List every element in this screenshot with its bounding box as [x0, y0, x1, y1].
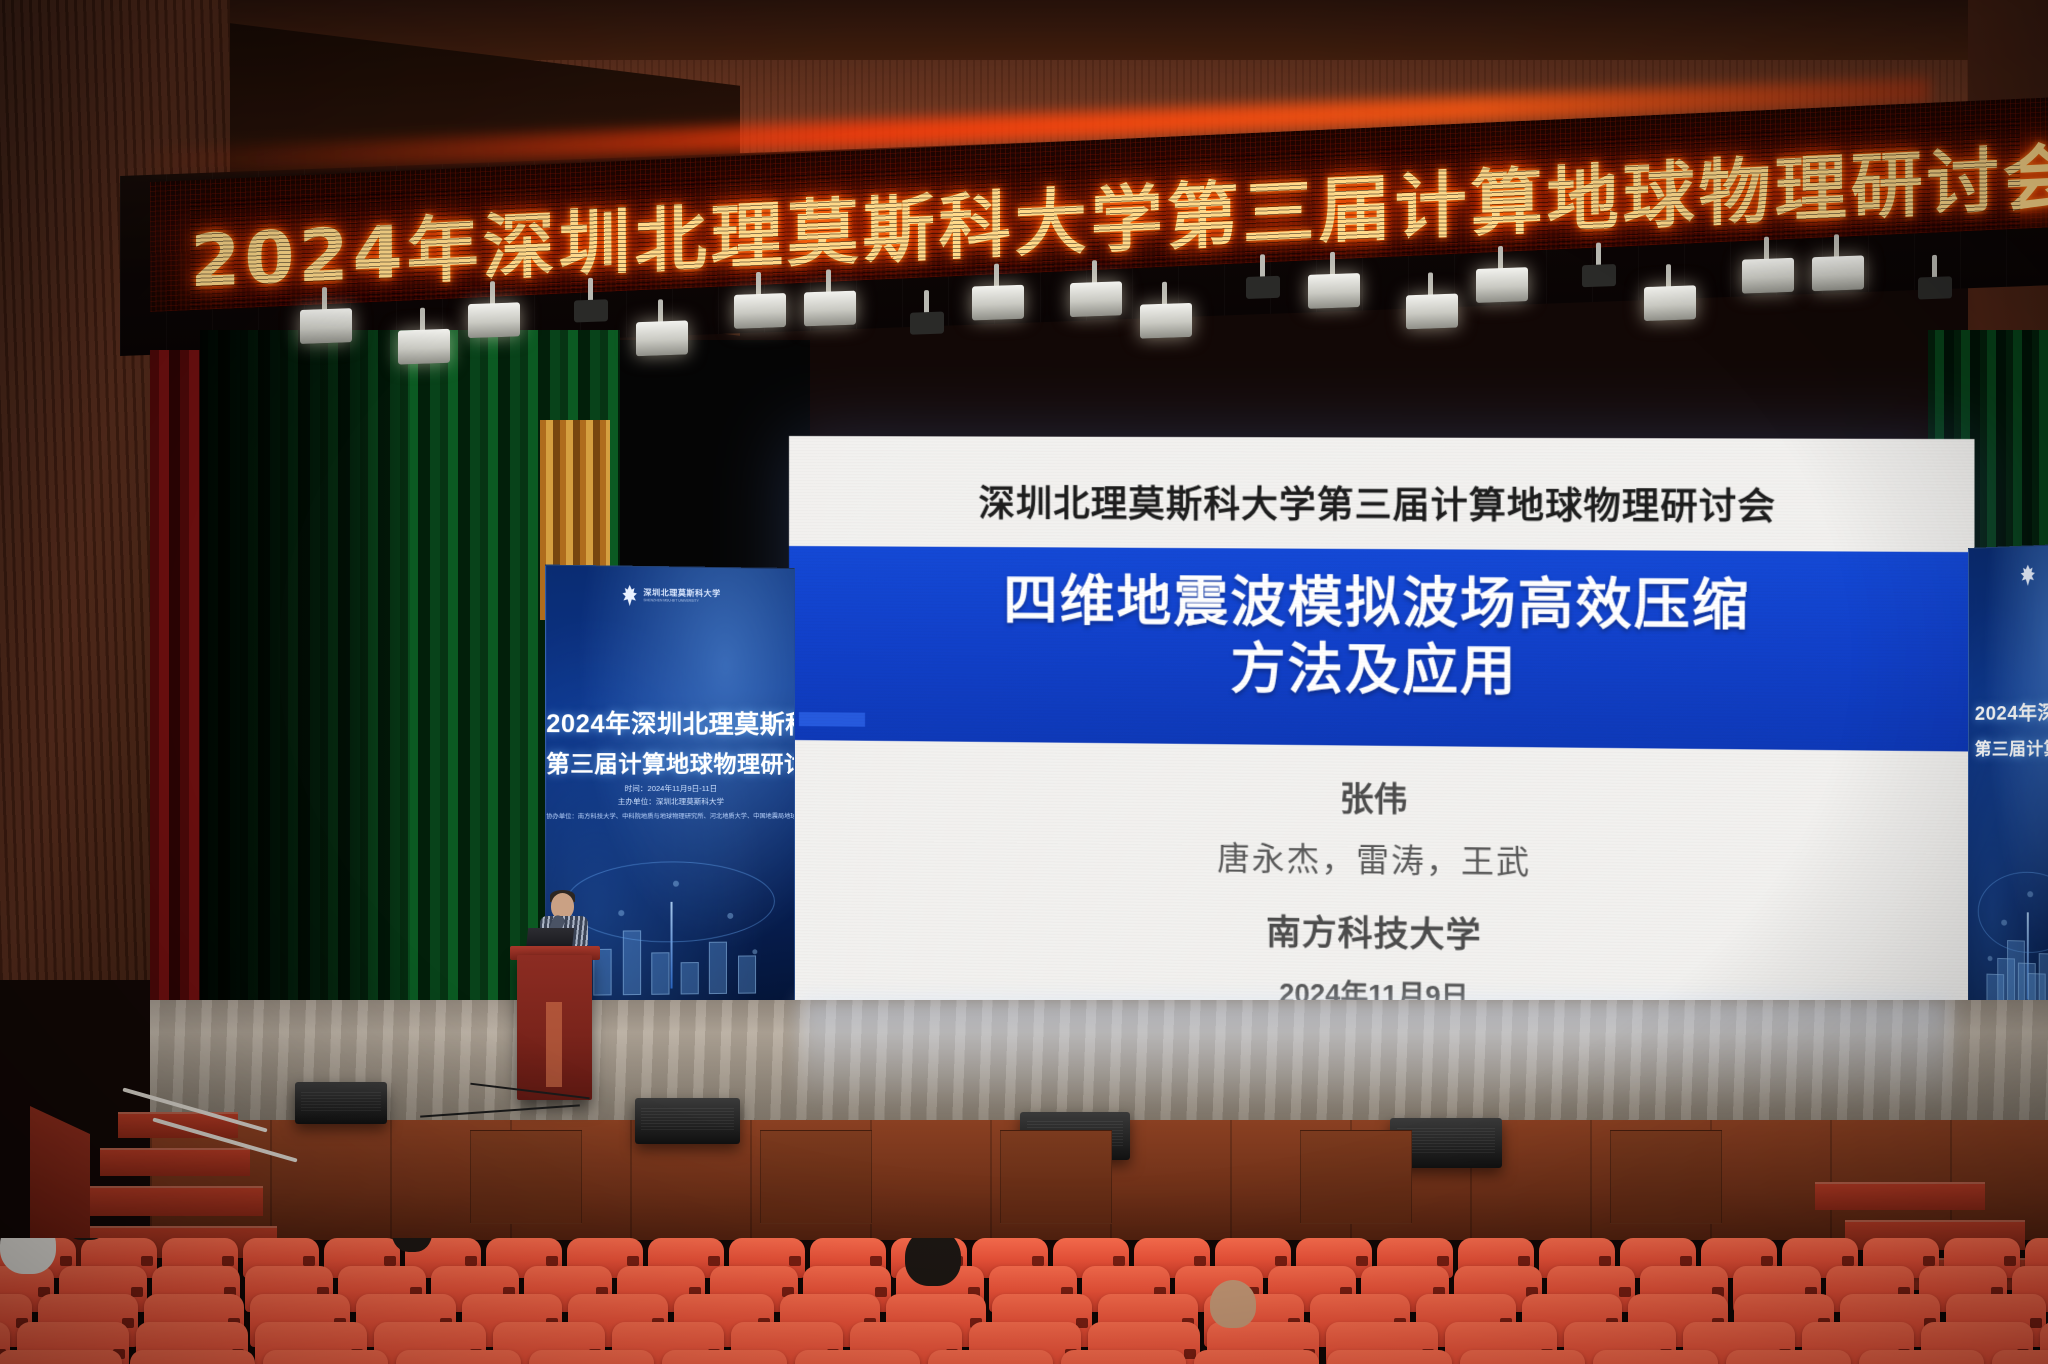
seat-cup-holder	[303, 1256, 315, 1266]
seat-cup-holder	[627, 1256, 639, 1266]
university-crest-icon-right	[2019, 564, 2036, 586]
seat-cup-holder	[2004, 1256, 2016, 1266]
truss-lamp	[468, 302, 520, 338]
presentation-screen: 深圳北理莫斯科大学第三届计算地球物理研讨会 四维地震波模拟波场高效压缩 方法及应…	[789, 436, 1975, 1053]
seat-cup-holder	[1194, 1256, 1206, 1266]
university-crest-icon	[621, 585, 638, 606]
audience-seat	[0, 1350, 122, 1364]
truss-lamp	[1742, 258, 1794, 294]
seat-cup-holder	[1842, 1256, 1854, 1266]
seat-cup-holder	[60, 1256, 72, 1266]
truss-lamp	[1406, 294, 1458, 330]
university-logo-text: 深圳北理莫斯科大学 SHENZHEN MSU-BIT UNIVERSITY	[643, 588, 720, 603]
poster-artwork-right	[1969, 839, 2048, 1024]
truss-lamp-off	[910, 312, 944, 335]
slide-title-band: 四维地震波模拟波场高效压缩 方法及应用	[789, 546, 1975, 752]
seat-cup-holder	[1275, 1256, 1287, 1266]
stage-front-panel-4	[1300, 1130, 1412, 1224]
seat-cup-holder	[222, 1256, 234, 1266]
poster-network-graphic	[1969, 839, 2048, 1024]
poster-meta-host: 主办单位：深圳北理莫斯科大学	[546, 796, 794, 807]
poster-banner-right: 2024年深圳北理 第三届计算地球物	[1968, 543, 2048, 1025]
audience-seat	[130, 1350, 255, 1364]
stage-step-3	[78, 1186, 263, 1216]
audience-seat	[662, 1350, 787, 1364]
seat-cup-holder	[1761, 1256, 1773, 1266]
seat-cup-holder	[384, 1256, 396, 1266]
truss-lamp	[734, 293, 786, 329]
seat-cup-holder	[1619, 1287, 1631, 1297]
seat-cup-holder	[1599, 1256, 1611, 1266]
seat-cup-holder	[141, 1256, 153, 1266]
university-logo-right	[2019, 564, 2036, 586]
seat-cup-holder	[2030, 1318, 2042, 1328]
seat-cup-holder	[546, 1256, 558, 1266]
seat-cup-holder	[870, 1256, 882, 1266]
poster-right-title-line-2: 第三届计算地球物	[1975, 734, 2048, 760]
university-logo-name: 深圳北理莫斯科大学	[643, 588, 720, 598]
truss-lamp	[1476, 267, 1528, 303]
truss-lamp-off	[574, 299, 608, 322]
audience-member-head	[1210, 1280, 1256, 1328]
auditorium-scene: 2024年深圳北理莫斯科大学第三届计算地球物理研讨会 深圳北理莫斯科大学第三届计…	[0, 0, 2048, 1364]
poster-meta-time: 时间：2024年11月9日-11日	[546, 783, 794, 794]
seat-cup-holder	[875, 1287, 887, 1297]
audience-seat	[1061, 1350, 1186, 1364]
stage-front-panel-3	[1000, 1130, 1112, 1224]
poster-title-line-1: 2024年深圳北理莫斯科大学	[546, 704, 794, 741]
floor-monitor-2	[635, 1098, 740, 1144]
poster-meta-cohost: 协办单位：南方科技大学、中科院地质与地球物理研究所、河北地质大学、中国地震局地球…	[546, 811, 794, 820]
audience-seat	[1593, 1350, 1718, 1364]
seat-cup-holder	[465, 1256, 477, 1266]
audience-seat	[1859, 1350, 1984, 1364]
slide-author: 张伟	[789, 766, 1975, 828]
truss-lamp	[1812, 255, 1864, 291]
stage-floor-reflection	[800, 1000, 1950, 1110]
seat-cup-holder	[1356, 1256, 1368, 1266]
university-logo: 深圳北理莫斯科大学 SHENZHEN MSU-BIT UNIVERSITY	[621, 585, 721, 607]
audience-seat	[396, 1350, 521, 1364]
podium-accent-strip	[546, 1002, 562, 1087]
curtain-shadow	[200, 330, 410, 1020]
audience-member-head	[905, 1238, 961, 1286]
seat-cup-holder	[131, 1287, 143, 1297]
audience-seat	[795, 1350, 920, 1364]
audience-seat	[1194, 1350, 1319, 1364]
truss-lamp	[1140, 303, 1192, 339]
stage-step-2	[100, 1148, 250, 1176]
slide-title-line-2: 方法及应用	[789, 634, 1975, 710]
audience-seat	[1460, 1350, 1585, 1364]
slide-coauthors: 唐永杰，雷涛，王武	[789, 828, 1975, 889]
seat-cup-holder	[1113, 1256, 1125, 1266]
slide-title: 四维地震波模拟波场高效压缩 方法及应用	[789, 568, 1975, 710]
audience-seat	[928, 1350, 1053, 1364]
truss-lamp	[804, 291, 856, 327]
university-logo-sub: SHENZHEN MSU-BIT UNIVERSITY	[643, 599, 720, 604]
audience-seat	[263, 1350, 388, 1364]
poster-right-title-line-1: 2024年深圳北理	[1975, 697, 2048, 726]
audience-seat	[1992, 1350, 2048, 1364]
truss-lamp-off	[1582, 264, 1616, 287]
truss-lamp	[1070, 281, 1122, 317]
truss-lamp-off	[1246, 276, 1280, 299]
seat-cup-holder	[708, 1256, 720, 1266]
audience-seat	[529, 1350, 654, 1364]
stage-front-panel-2	[760, 1130, 872, 1224]
truss-lamp-off	[1918, 276, 1952, 299]
truss-lamp	[1308, 273, 1360, 309]
slide-affiliation: 南方科技大学	[789, 898, 1975, 964]
floor-monitor-1	[295, 1082, 387, 1124]
truss-lamp	[636, 320, 688, 356]
stage-step-right-1	[1815, 1182, 1985, 1210]
seat-cup-holder	[1518, 1256, 1530, 1266]
truss-lamp	[1644, 285, 1696, 321]
seat-cup-holder	[1680, 1256, 1692, 1266]
audience-seating	[0, 1238, 2048, 1364]
audience-seat	[1327, 1350, 1452, 1364]
seat-cup-holder	[789, 1256, 801, 1266]
truss-lamp	[972, 285, 1024, 321]
seat-cup-holder	[1437, 1256, 1449, 1266]
truss-lamp	[300, 308, 352, 344]
stage-front-panel-5	[1610, 1130, 1722, 1224]
stage-front-panel-1	[470, 1130, 582, 1224]
poster-title-line-2: 第三届计算地球物理研讨会	[546, 744, 794, 779]
seat-cup-holder	[1032, 1256, 1044, 1266]
truss-lamp	[398, 329, 450, 365]
seat-cup-holder	[1923, 1256, 1935, 1266]
slide-header: 深圳北理莫斯科大学第三届计算地球物理研讨会	[789, 474, 1975, 532]
slide-band-accent	[799, 712, 865, 727]
slide-title-line-1: 四维地震波模拟波场高效压缩	[789, 568, 1975, 642]
audience-seat	[1726, 1350, 1851, 1364]
